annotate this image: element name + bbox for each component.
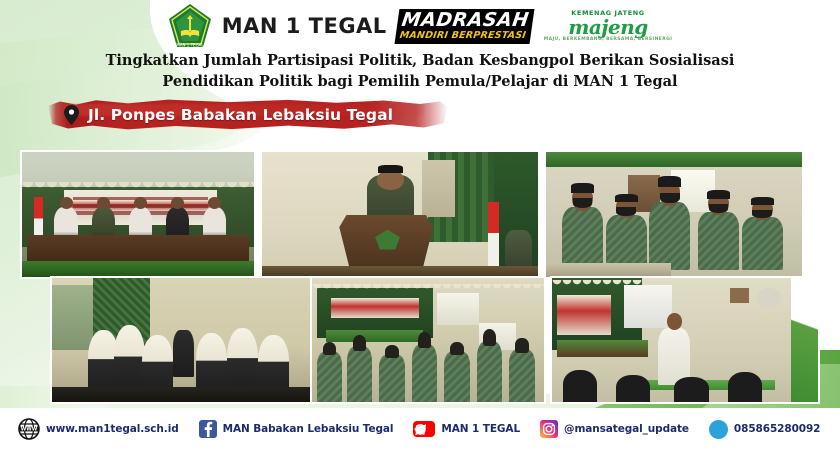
- poster-header: MAN 1 TEGAL MAN 1 TEGAL MADRASAH MANDIRI…: [0, 4, 840, 48]
- svg-text:MAN 1 TEGAL: MAN 1 TEGAL: [176, 43, 204, 48]
- man1tegal-crest-icon: MAN 1 TEGAL: [168, 3, 212, 49]
- headline-line-1: Tingkatkan Jumlah Partisipasi Politik, B…: [40, 50, 800, 71]
- headline-line-2: Pendidikan Politik bagi Pemilih Pemula/P…: [40, 71, 800, 92]
- address-ribbon: Jl. Ponpes Babakan Lebaksiu Tegal: [48, 99, 448, 130]
- photo-panel-speakers: [22, 152, 254, 277]
- majeng-logo: KEMENAG JATENG majeng MAJU, BERKEMBANG, …: [544, 10, 673, 42]
- madrasah-badge-line2: MANDIRI BERPRESTASI: [399, 31, 527, 41]
- map-pin-icon: [64, 105, 79, 125]
- majeng-tagline: MAJU, BERKEMBANG, BERSAMA, BERSINERGI: [544, 38, 673, 43]
- madrasah-mandiri-badge: MADRASAH MANDIRI BERPRESTASI: [394, 9, 534, 44]
- madrasah-badge-line1: MADRASAH: [400, 11, 530, 30]
- photo-presenter-microphone: [552, 278, 818, 402]
- headline-block: Tingkatkan Jumlah Partisipasi Politik, B…: [0, 50, 840, 92]
- photo-podium-speaker: [262, 152, 538, 277]
- address-label: Jl. Ponpes Babakan Lebaksiu Tegal: [88, 106, 393, 124]
- majeng-wordmark: majeng: [568, 17, 648, 37]
- photo-students-thumbs-up: [546, 152, 818, 277]
- footer-contact-bar: WWW www.man1tegal.sch.id MAN Babakan Leb…: [0, 408, 840, 450]
- photo-hall-wide: [312, 278, 544, 402]
- school-name-title: MAN 1 TEGAL: [222, 14, 387, 38]
- poster-canvas: MAN 1 TEGAL MAN 1 TEGAL MADRASAH MANDIRI…: [0, 0, 840, 450]
- photo-female-students: [52, 278, 310, 402]
